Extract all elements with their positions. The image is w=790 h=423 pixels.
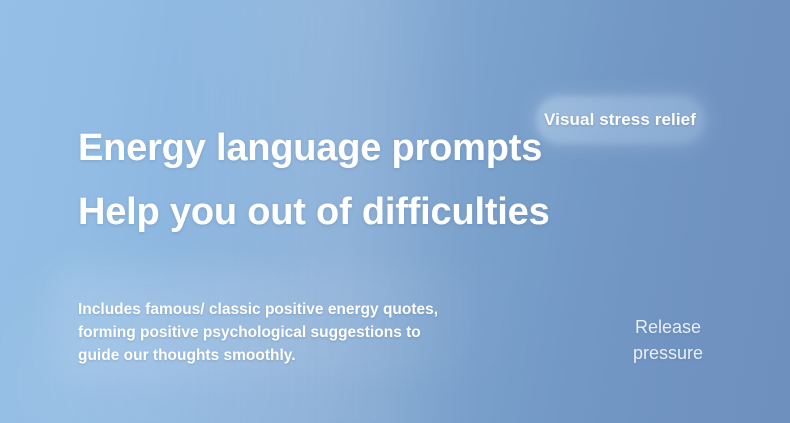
caption-line-2: pressure [598, 340, 738, 366]
headline-line-2: Help you out of difficulties [78, 180, 550, 244]
badge-visual-stress-relief[interactable]: Visual stress relief [536, 96, 704, 144]
paragraph-line-3: guide our thoughts smoothly. [78, 344, 518, 367]
slide-canvas: Visual stress relief Energy language pro… [0, 0, 790, 423]
page-title: Energy language prompts Help you out of … [78, 116, 550, 244]
headline-line-1: Energy language prompts [78, 116, 550, 180]
paragraph-line-1: Includes famous/ classic positive energy… [78, 298, 518, 321]
badge-label: Visual stress relief [536, 96, 704, 144]
release-pressure-caption: Release pressure [598, 314, 738, 366]
description-paragraph: Includes famous/ classic positive energy… [78, 298, 518, 367]
paragraph-line-2: forming positive psychological suggestio… [78, 321, 518, 344]
caption-line-1: Release [598, 314, 738, 340]
